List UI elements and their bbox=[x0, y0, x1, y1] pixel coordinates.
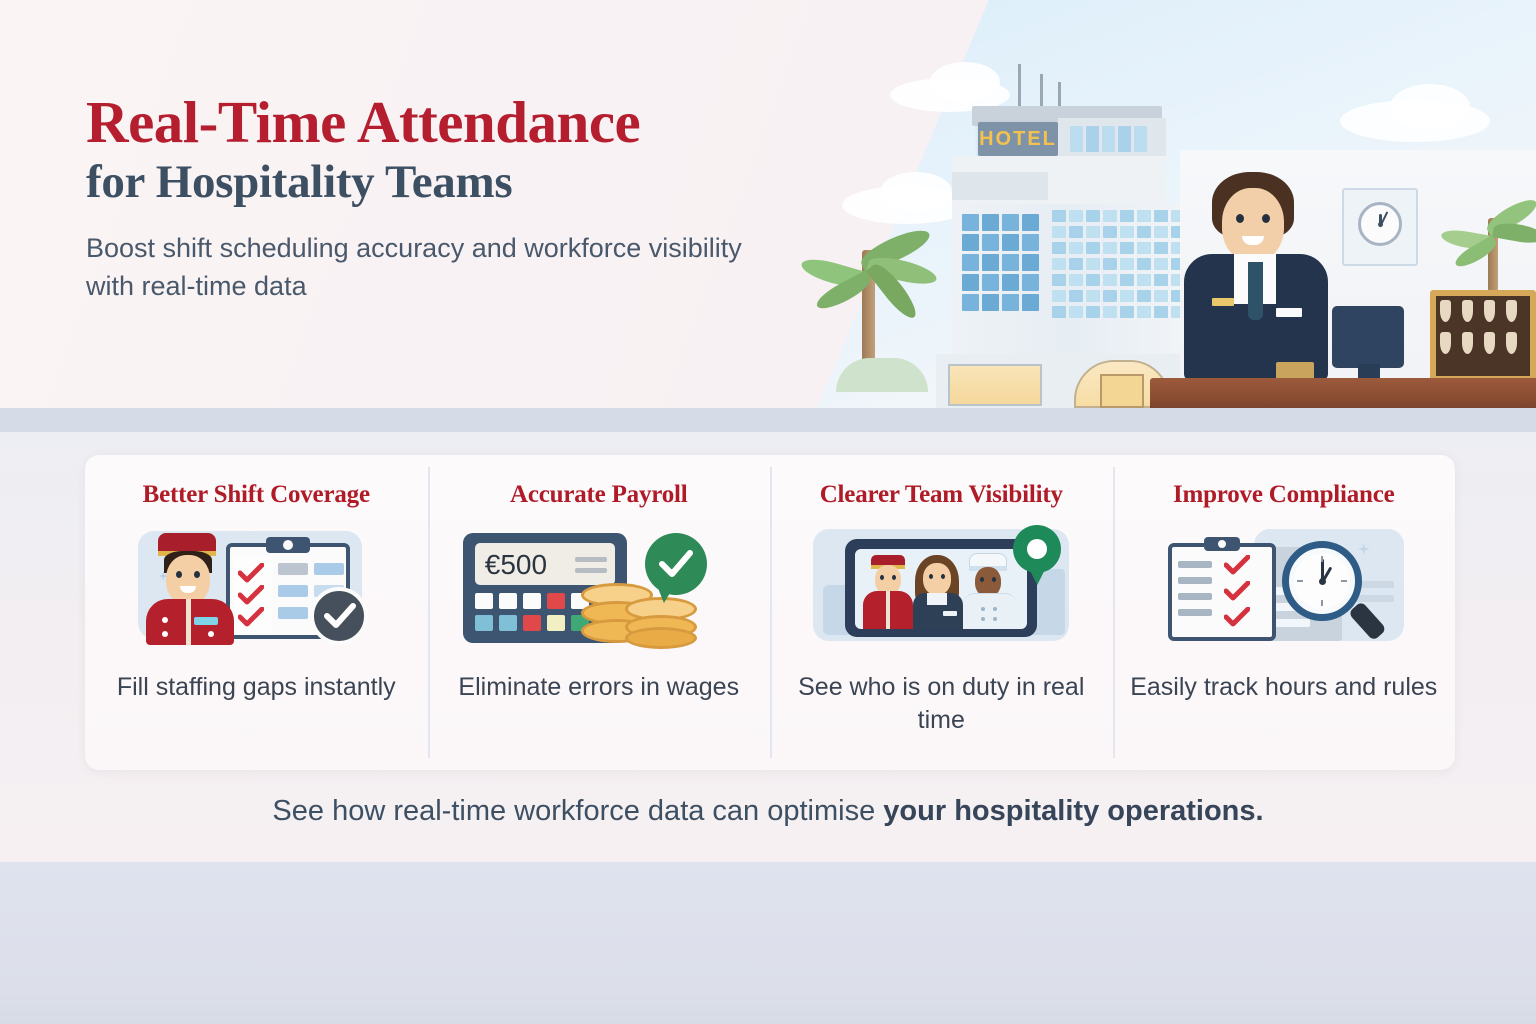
window bbox=[1154, 242, 1168, 254]
clock-center-dot bbox=[1378, 222, 1383, 227]
antenna-icon bbox=[1040, 74, 1043, 106]
checkmark-icon bbox=[1224, 581, 1250, 601]
staff-collar bbox=[927, 593, 947, 605]
checkmark-icon bbox=[1224, 607, 1250, 627]
window bbox=[1103, 258, 1117, 270]
clock-tick bbox=[1321, 600, 1323, 606]
checkmark-icon bbox=[238, 563, 264, 583]
calculator-key[interactable] bbox=[475, 593, 493, 609]
checklist-line bbox=[1178, 593, 1212, 600]
window bbox=[1069, 306, 1083, 318]
staff-chef-uniform bbox=[963, 593, 1017, 629]
checkmark-icon bbox=[324, 603, 356, 629]
card-description: Easily track hours and rules bbox=[1130, 671, 1437, 704]
window bbox=[1086, 290, 1100, 302]
headline-secondary: for Hospitality Teams bbox=[86, 156, 826, 209]
uniform-trim bbox=[886, 591, 890, 629]
window bbox=[1154, 274, 1168, 286]
window bbox=[1052, 306, 1066, 318]
window bbox=[1002, 294, 1019, 311]
bellhop-clipboard-check-icon bbox=[106, 525, 406, 653]
lobby-door bbox=[1100, 374, 1144, 408]
calculator-key[interactable] bbox=[475, 615, 493, 631]
room-key-icon bbox=[1462, 300, 1473, 322]
hotel-sign: HOTEL bbox=[978, 122, 1058, 156]
window bbox=[962, 234, 979, 251]
window bbox=[1137, 210, 1151, 222]
calculator-key[interactable] bbox=[547, 593, 565, 609]
window bbox=[1137, 274, 1151, 286]
infographic-poster: HOTEL bbox=[0, 0, 1536, 1024]
window bbox=[962, 294, 979, 311]
facade-window-grid-right bbox=[1052, 210, 1185, 318]
window bbox=[1103, 274, 1117, 286]
wall-clock-icon bbox=[1358, 202, 1402, 246]
window bbox=[1103, 242, 1117, 254]
window bbox=[1134, 126, 1147, 152]
room-key-icon bbox=[1440, 332, 1451, 354]
window bbox=[1137, 290, 1151, 302]
bellhop-face bbox=[166, 555, 210, 605]
benefit-card-accurate-payroll[interactable]: Accurate Payroll €500 bbox=[428, 455, 771, 770]
hero-title-block: Real-Time Attendancefor Hospitality Team… bbox=[86, 92, 826, 305]
window bbox=[1086, 306, 1100, 318]
window bbox=[1086, 258, 1100, 270]
cloud-icon bbox=[1390, 84, 1470, 130]
receptionist-eye bbox=[1236, 214, 1244, 223]
section-divider-band bbox=[0, 408, 1536, 432]
window bbox=[1120, 258, 1134, 270]
card-title: Clearer Team Visibility bbox=[820, 481, 1063, 509]
clock-center-dot bbox=[1319, 578, 1326, 585]
key-rack bbox=[1430, 290, 1536, 382]
display-line bbox=[575, 557, 607, 562]
window bbox=[1118, 126, 1131, 152]
checklist-line bbox=[1178, 577, 1212, 584]
monitor-stand bbox=[1358, 364, 1380, 378]
window bbox=[1070, 126, 1083, 152]
window bbox=[1022, 274, 1039, 291]
card-description: See who is on duty in real time bbox=[784, 671, 1099, 737]
window bbox=[1022, 214, 1039, 231]
checklist-line bbox=[1178, 609, 1212, 616]
window bbox=[962, 214, 979, 231]
room-key-icon bbox=[1506, 332, 1517, 354]
clipboard-clock-magnifier-icon bbox=[1134, 525, 1434, 653]
staff-receptionist-face bbox=[923, 563, 951, 595]
window bbox=[1069, 242, 1083, 254]
window bbox=[1120, 290, 1134, 302]
name-badge-icon bbox=[1212, 298, 1234, 306]
room-key-icon bbox=[1506, 300, 1517, 322]
headline-primary: Real-Time Attendance bbox=[86, 92, 826, 152]
benefit-cards-panel: Better Shift Coverage bbox=[85, 455, 1455, 770]
window bbox=[1002, 234, 1019, 251]
window bbox=[982, 214, 999, 231]
window bbox=[1120, 226, 1134, 238]
window bbox=[1103, 226, 1117, 238]
checklist-line bbox=[1178, 561, 1212, 568]
benefit-card-improve-compliance[interactable]: Improve Compliance bbox=[1113, 455, 1456, 770]
card-description: Fill staffing gaps instantly bbox=[117, 671, 396, 704]
calculator-key[interactable] bbox=[523, 593, 541, 609]
room-key-icon bbox=[1484, 332, 1495, 354]
coin-stack-icon bbox=[625, 627, 697, 649]
footer-text-normal: See how real-time workforce data can opt… bbox=[272, 795, 883, 827]
window bbox=[1154, 258, 1168, 270]
card-description: Eliminate errors in wages bbox=[458, 671, 739, 704]
window bbox=[1102, 126, 1115, 152]
antenna-icon bbox=[1018, 64, 1021, 106]
window bbox=[982, 294, 999, 311]
clock-tick bbox=[1341, 580, 1347, 582]
window bbox=[1002, 214, 1019, 231]
name-badge-icon bbox=[943, 611, 957, 616]
calculator-key[interactable] bbox=[499, 593, 517, 609]
antenna-icon bbox=[1058, 82, 1061, 108]
calculator-key[interactable] bbox=[547, 615, 565, 631]
window bbox=[1002, 254, 1019, 271]
hero-section: HOTEL bbox=[0, 0, 1536, 410]
checkmark-icon bbox=[1224, 555, 1250, 575]
window bbox=[1103, 290, 1117, 302]
checkmark-icon bbox=[659, 550, 693, 578]
window bbox=[1069, 210, 1083, 222]
window bbox=[962, 254, 979, 271]
window bbox=[1154, 290, 1168, 302]
hero-subtitle: Boost shift scheduling accuracy and work… bbox=[86, 229, 786, 306]
checkmark-icon bbox=[238, 585, 264, 605]
window bbox=[1086, 126, 1099, 152]
card-title: Accurate Payroll bbox=[510, 481, 688, 509]
facade-window-grid-left bbox=[962, 214, 1039, 311]
window bbox=[1069, 226, 1083, 238]
checkmark-icon bbox=[238, 607, 264, 627]
footer-text-bold: your hospitality operations. bbox=[883, 795, 1263, 827]
benefit-card-better-shift-coverage[interactable]: Better Shift Coverage bbox=[85, 455, 428, 770]
calculator-key[interactable] bbox=[499, 615, 517, 631]
window bbox=[1137, 306, 1151, 318]
window bbox=[1052, 258, 1066, 270]
calculator-key[interactable] bbox=[523, 615, 541, 631]
window bbox=[1052, 242, 1066, 254]
window bbox=[1154, 210, 1168, 222]
uniform-trim bbox=[186, 599, 191, 645]
reception-desk bbox=[1150, 378, 1536, 410]
compliance-clipboard-icon bbox=[1168, 543, 1276, 641]
window bbox=[1069, 290, 1083, 302]
receptionist-eye bbox=[1262, 214, 1270, 223]
card-title: Better Shift Coverage bbox=[143, 481, 370, 509]
clipboard-clip-hole bbox=[1218, 540, 1226, 548]
tower-shade bbox=[952, 172, 1048, 200]
window bbox=[962, 274, 979, 291]
roof-window-grid bbox=[1070, 126, 1147, 152]
calculator-display-value: €500 bbox=[485, 549, 547, 581]
document-line bbox=[1270, 619, 1310, 627]
window bbox=[1052, 210, 1066, 222]
window bbox=[1103, 210, 1117, 222]
lobby-window-left bbox=[948, 364, 1042, 406]
window bbox=[1120, 210, 1134, 222]
window bbox=[982, 274, 999, 291]
window bbox=[1022, 254, 1039, 271]
window bbox=[1137, 242, 1151, 254]
clock-tick bbox=[1297, 580, 1303, 582]
footer-callout: See how real-time workforce data can opt… bbox=[0, 795, 1536, 828]
room-key-icon bbox=[1440, 300, 1451, 322]
window bbox=[1069, 274, 1083, 286]
window bbox=[1069, 258, 1083, 270]
window bbox=[982, 254, 999, 271]
window bbox=[1022, 294, 1039, 311]
room-key-icon bbox=[1462, 332, 1473, 354]
receptionist-tie bbox=[1248, 262, 1263, 320]
window bbox=[1086, 242, 1100, 254]
receptionist-face bbox=[1222, 188, 1284, 262]
room-key-icon bbox=[1484, 300, 1495, 322]
benefit-card-clearer-team-visibility[interactable]: Clearer Team Visibility bbox=[770, 455, 1113, 770]
window bbox=[1086, 210, 1100, 222]
window bbox=[1137, 258, 1151, 270]
schedule-row bbox=[278, 585, 308, 597]
tablet-team-location-icon bbox=[791, 525, 1091, 653]
schedule-row bbox=[278, 607, 308, 619]
desk-monitor bbox=[1332, 306, 1404, 368]
clock-tick bbox=[1321, 556, 1323, 562]
window bbox=[1154, 226, 1168, 238]
receptionist-scene bbox=[1180, 150, 1536, 410]
window bbox=[1002, 274, 1019, 291]
display-line bbox=[575, 568, 607, 573]
window bbox=[1137, 226, 1151, 238]
window bbox=[1086, 226, 1100, 238]
window bbox=[1120, 242, 1134, 254]
uniform-badge bbox=[194, 617, 218, 625]
bottom-band bbox=[0, 862, 1536, 1024]
window bbox=[1154, 306, 1168, 318]
schedule-row bbox=[278, 563, 308, 575]
pocket-square bbox=[1276, 308, 1302, 317]
window bbox=[1022, 234, 1039, 251]
window bbox=[1103, 306, 1117, 318]
window bbox=[1052, 290, 1066, 302]
window bbox=[1120, 274, 1134, 286]
calculator-coins-check-icon: €500 bbox=[449, 525, 749, 653]
schedule-row bbox=[314, 563, 344, 575]
window bbox=[1052, 226, 1066, 238]
window bbox=[1120, 306, 1134, 318]
hotel-sign-label: HOTEL bbox=[979, 128, 1057, 151]
window bbox=[982, 234, 999, 251]
window bbox=[1086, 274, 1100, 286]
window bbox=[1052, 274, 1066, 286]
card-title: Improve Compliance bbox=[1173, 481, 1395, 509]
